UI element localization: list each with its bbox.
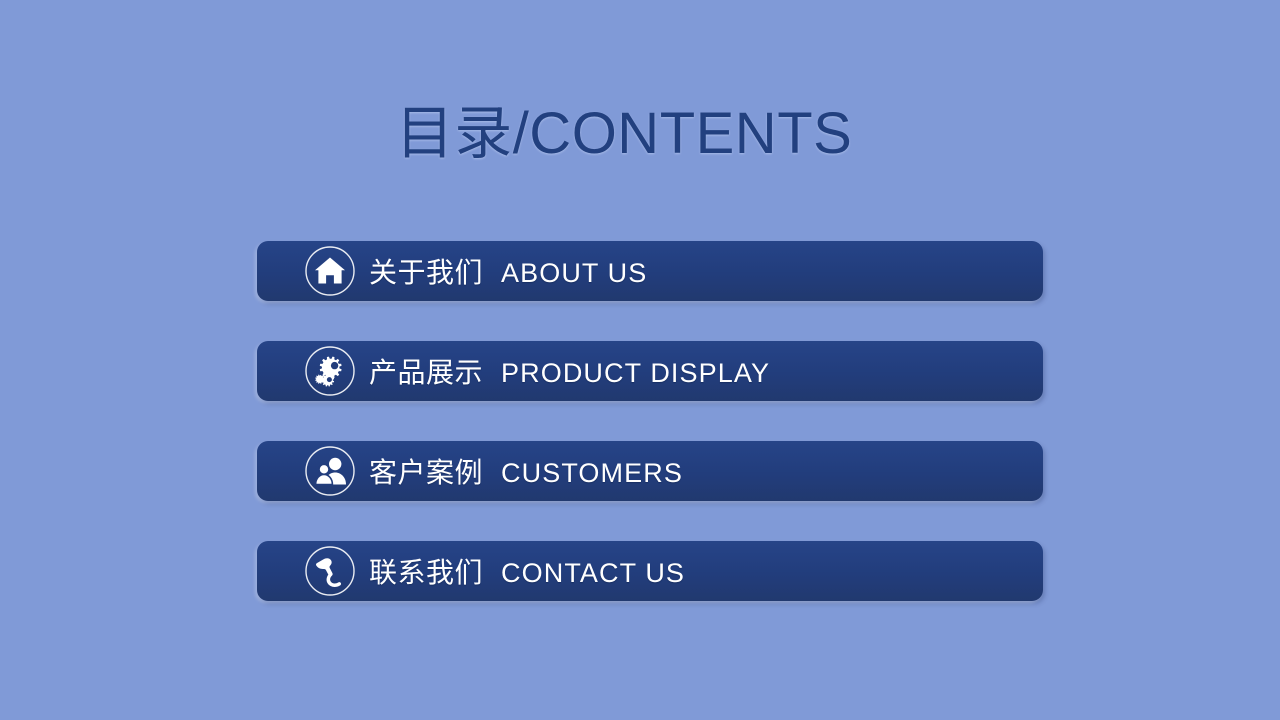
- contents-item-customers[interactable]: 客户案例 CUSTOMERS: [257, 441, 1043, 501]
- contents-item-label-cn: 产品展示: [369, 351, 483, 391]
- contents-item-label-en: CONTACT US: [501, 558, 685, 589]
- home-icon: [304, 245, 356, 297]
- contents-item-label-cn: 关于我们: [369, 251, 483, 291]
- contents-item-about-us[interactable]: 关于我们 ABOUT US: [257, 241, 1043, 301]
- contents-item-product-display[interactable]: 产品展示 PRODUCT DISPLAY: [257, 341, 1043, 401]
- contents-item-label-cn: 客户案例: [369, 451, 483, 491]
- contents-item-contact-us[interactable]: 联系我们 CONTACT US: [257, 541, 1043, 601]
- contents-item-label: 联系我们 CONTACT US: [369, 551, 685, 591]
- presentation-slide: 目录/CONTENTS 关于我们 ABOUT US: [0, 0, 1280, 720]
- contents-item-label: 客户案例 CUSTOMERS: [369, 451, 683, 491]
- contents-item-label: 关于我们 ABOUT US: [369, 251, 647, 291]
- gears-icon: [304, 345, 356, 397]
- contents-item-label-en: PRODUCT DISPLAY: [501, 358, 770, 389]
- page-title: 目录/CONTENTS: [0, 98, 1248, 170]
- contents-list: 关于我们 ABOUT US: [257, 241, 1043, 601]
- contents-item-label-en: ABOUT US: [501, 258, 647, 289]
- phone-icon: [304, 545, 356, 597]
- contents-item-label-cn: 联系我们: [369, 551, 483, 591]
- users-icon: [304, 445, 356, 497]
- contents-item-label-en: CUSTOMERS: [501, 458, 683, 489]
- contents-item-label: 产品展示 PRODUCT DISPLAY: [369, 351, 770, 391]
